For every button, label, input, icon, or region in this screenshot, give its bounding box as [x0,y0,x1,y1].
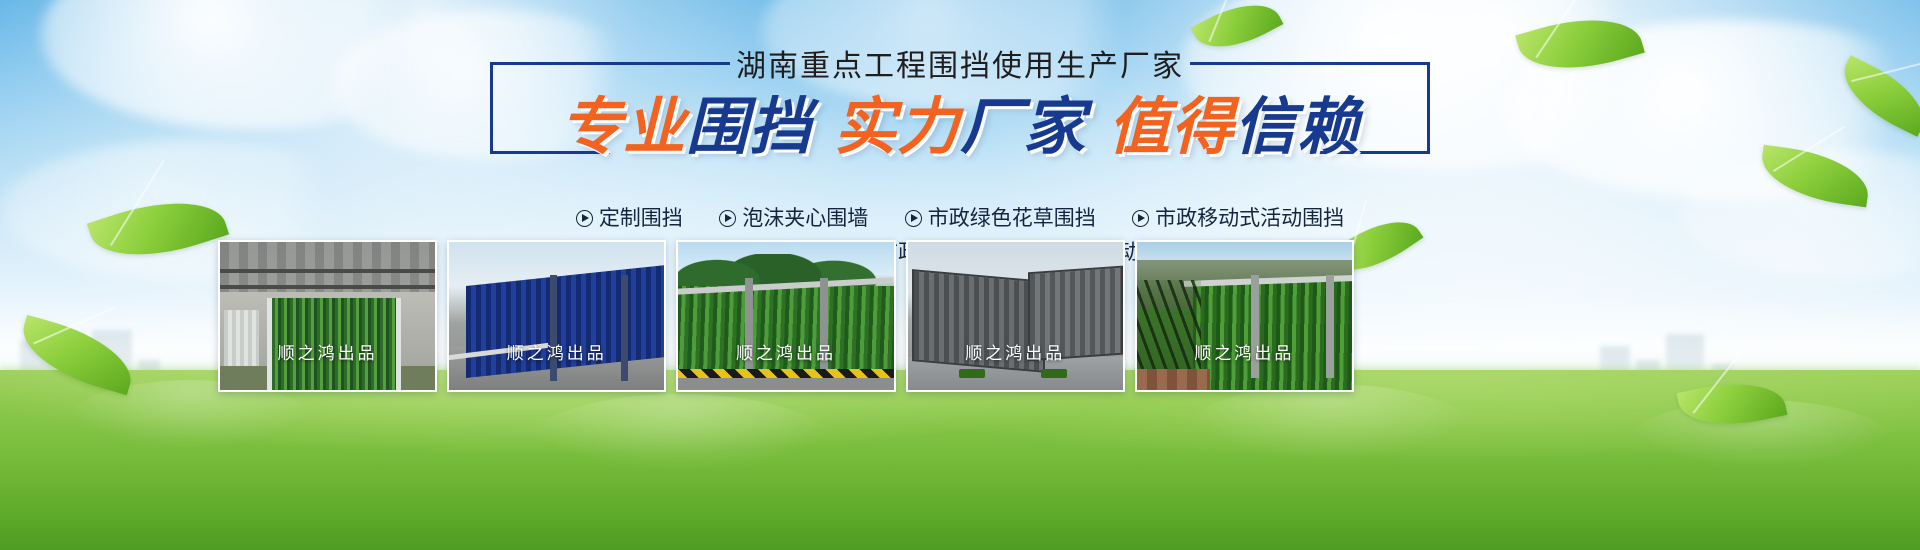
product-thumbnail-2[interactable]: 顺之鸿出品 [447,240,666,392]
feature-item-foam-wall[interactable]: 泡沫夹心围墙 [719,202,868,236]
thumbnail-image-2 [449,242,664,390]
feature-label: 定制围挡 [599,207,683,230]
thumbnail-image-3 [678,242,893,390]
feature-row-1: 定制围挡 泡沫夹心围墙 市政绿色花草围挡 市政移动式活动围挡 [0,202,1920,236]
banner-subtitle: 湖南重点工程围挡使用生产厂家 [0,48,1920,86]
title-part-2: 围挡 [686,92,812,164]
feature-label: 泡沫夹心围墙 [742,207,868,230]
promo-banner: 湖南重点工程围挡使用生产厂家 专业围挡实力厂家值得信赖 定制围挡 泡沫夹心围墙 … [0,0,1920,550]
product-thumbnail-5[interactable]: 顺之鸿出品 [1135,240,1354,392]
feature-item-green-grass-fence[interactable]: 市政绿色花草围挡 [905,202,1096,236]
feature-label: 市政绿色花草围挡 [928,207,1096,230]
feature-label: 市政移动式活动围挡 [1155,207,1344,230]
title-part-3: 实力 [834,92,960,164]
product-thumbnail-4[interactable]: 顺之鸿出品 [906,240,1125,392]
play-bullet-icon [1132,210,1149,227]
play-bullet-icon [576,210,593,227]
thumbnail-image-1 [220,242,435,390]
product-thumbnail-row: 顺之鸿出品 顺之鸿出品 顺之鸿出品 顺之鸿出品 [218,240,1354,392]
thumbnail-image-4 [908,242,1123,390]
grass-foreground [0,370,1920,550]
title-part-5: 值得 [1108,92,1234,164]
product-thumbnail-1[interactable]: 顺之鸿出品 [218,240,437,392]
title-part-6: 信赖 [1234,92,1360,164]
thumbnail-image-5 [1137,242,1352,390]
play-bullet-icon [719,210,736,227]
feature-item-custom-fence[interactable]: 定制围挡 [576,202,683,236]
headline-block: 湖南重点工程围挡使用生产厂家 专业围挡实力厂家值得信赖 定制围挡 泡沫夹心围墙 … [0,44,1920,244]
feature-item-movable-fence[interactable]: 市政移动式活动围挡 [1132,202,1344,236]
title-part-1: 专业 [560,92,686,164]
banner-main-title: 专业围挡实力厂家值得信赖 [0,92,1920,164]
product-thumbnail-3[interactable]: 顺之鸿出品 [676,240,895,392]
title-part-4: 厂家 [960,92,1086,164]
play-bullet-icon [905,210,922,227]
